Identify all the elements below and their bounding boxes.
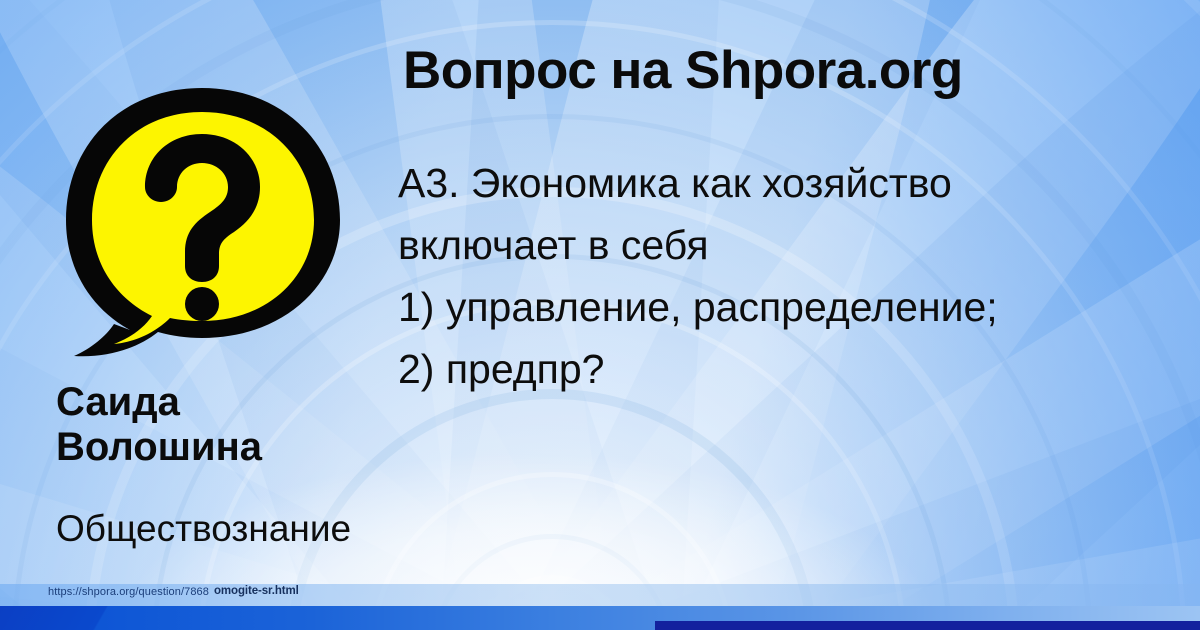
- source-url-overlay[interactable]: omogite-sr.html: [214, 585, 299, 597]
- author-first-name: Саида: [56, 380, 396, 425]
- question-line-2: включает в себя: [398, 214, 1188, 276]
- url-strip: https://shpora.org/question/7868 omogite…: [0, 584, 1200, 606]
- bottom-left-wedge: [0, 606, 180, 630]
- author-name: Саида Волошина: [56, 380, 396, 470]
- question-line-1: А3. Экономика как хозяйство: [398, 152, 1188, 214]
- question-text: А3. Экономика как хозяйство включает в с…: [398, 152, 1188, 400]
- page-title: Вопрос на Shpora.org: [403, 40, 963, 101]
- subject-label: Обществознание: [56, 508, 351, 550]
- author-last-name: Волошина: [56, 425, 396, 470]
- source-url[interactable]: https://shpora.org/question/7868: [48, 586, 209, 598]
- shpora-question-card: Вопрос на Shpora.org А3. Экономика как х…: [0, 0, 1200, 630]
- question-option-1: 1) управление, распределение;: [398, 276, 1188, 338]
- question-option-2: 2) предпр?: [398, 338, 1188, 400]
- question-speech-bubble-icon: [52, 80, 352, 360]
- question-mark-dot: [185, 287, 219, 321]
- bottom-dark-bar: [655, 621, 1200, 630]
